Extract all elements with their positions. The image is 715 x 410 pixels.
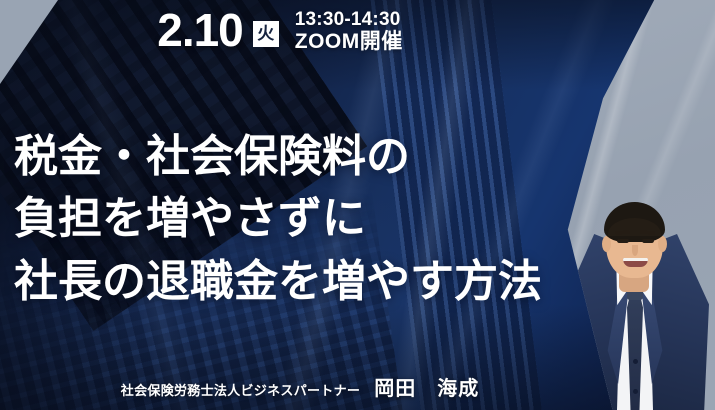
headline-line-2: 負担を増やさずに <box>14 188 634 250</box>
jacket-button-bottom <box>633 389 638 394</box>
event-time-block: 13:30-14:30 ZOOM開催 <box>295 9 403 54</box>
event-platform: ZOOM開催 <box>295 30 403 54</box>
headline-block: 税金・社会保険料の 負担を増やさずに 社長の退職金を増やす方法 <box>14 126 634 313</box>
event-time-range: 13:30-14:30 <box>295 9 403 30</box>
seminar-banner: 2.10 火 13:30-14:30 ZOOM開催 税金・社会保険料の 負担を増… <box>0 0 715 410</box>
headline-line-1: 税金・社会保険料の <box>14 126 634 188</box>
event-date: 2.10 <box>157 7 243 53</box>
eye-right <box>642 239 654 243</box>
organization-name: 社会保険労務士法人ビジネスパートナー <box>121 380 360 399</box>
jacket-button-top <box>633 359 638 364</box>
headline-line-3: 社長の退職金を増やす方法 <box>14 251 634 313</box>
speaker-credit: 社会保険労務士法人ビジネスパートナー 岡田 海成 <box>0 372 600 401</box>
ear-right <box>658 236 667 252</box>
day-of-week-badge: 火 <box>253 21 279 47</box>
speaker-name: 岡田 海成 <box>374 372 479 401</box>
event-header: 2.10 火 13:30-14:30 ZOOM開催 <box>0 6 560 54</box>
